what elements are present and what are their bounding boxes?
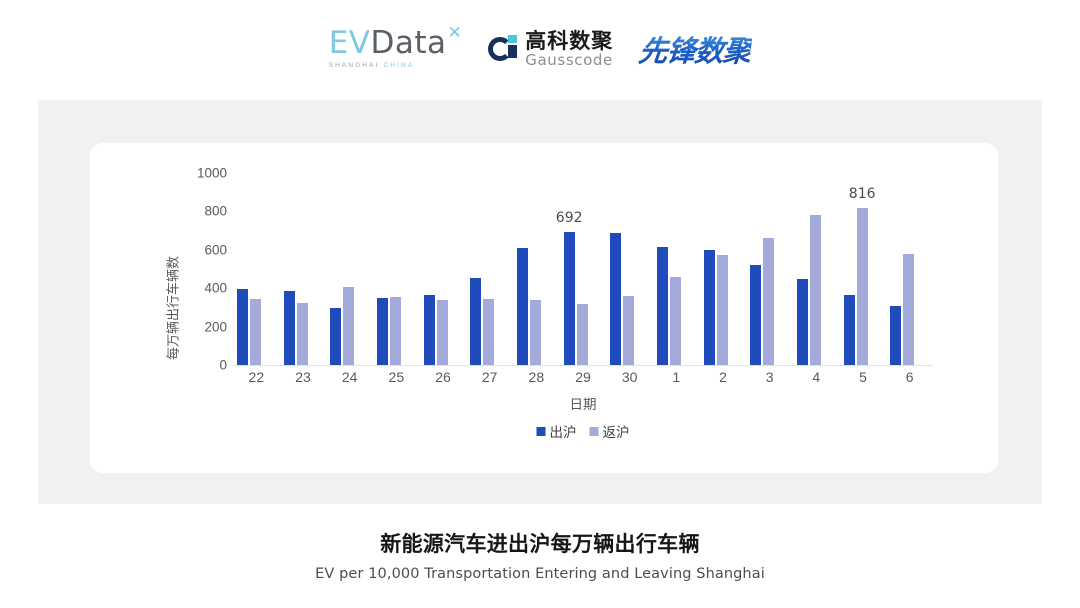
bar-group — [746, 173, 793, 365]
evdata-subtitle: SHANGHAI CHINA — [329, 63, 415, 70]
caption-chinese: 新能源汽车进出沪每万辆出行车辆 — [0, 528, 1080, 558]
bar-chuhu[interactable] — [797, 279, 808, 365]
legend-swatch-icon — [537, 427, 546, 436]
x-axis-tick-label: 1 — [672, 369, 680, 385]
bar-chuhu[interactable] — [750, 265, 761, 365]
x-axis-tick-label: 25 — [389, 369, 405, 385]
y-axis-title: 每万辆出行车辆数 — [163, 256, 182, 360]
bar-chuhu[interactable] — [330, 308, 341, 365]
bar-group — [513, 173, 560, 365]
bar-fanhu[interactable] — [763, 238, 774, 365]
x-axis-tick-label: 29 — [575, 369, 591, 385]
bar-chuhu[interactable] — [517, 248, 528, 366]
bar-group — [420, 173, 467, 365]
legend-item[interactable]: 出沪 — [537, 421, 577, 441]
bar-fanhu[interactable] — [483, 299, 494, 365]
bar-chuhu[interactable] — [890, 306, 901, 365]
chart-card: 每万辆出行车辆数 02004006008001000 692816 222324… — [90, 143, 998, 473]
gausscode-light-square-shape — [508, 35, 517, 43]
bar-fanhu[interactable] — [250, 299, 261, 365]
chart-legend: 出沪返沪 — [537, 421, 630, 441]
gausscode-wordmark: 高科数聚 Gausscode — [525, 31, 613, 68]
bar-group — [886, 173, 933, 365]
bar-fanhu[interactable] — [297, 303, 308, 365]
bar-fanhu[interactable] — [810, 215, 821, 365]
gausscode-chinese-text: 高科数聚 — [525, 31, 613, 52]
bar-fanhu[interactable] — [903, 254, 914, 365]
evdata-ev-text: EV — [329, 28, 371, 59]
bar-chuhu[interactable] — [844, 295, 855, 365]
x-axis-tick-label: 4 — [812, 369, 820, 385]
y-axis-ticks: 02004006008001000 — [185, 173, 227, 365]
evdata-logo: EV Data ✕ SHANGHAI CHINA — [329, 28, 463, 70]
bar-chuhu[interactable] — [610, 233, 621, 365]
plot-area: 692816 — [233, 173, 933, 366]
bar-fanhu[interactable] — [623, 296, 634, 365]
x-axis-tick-label: 27 — [482, 369, 498, 385]
x-axis-tick-label: 30 — [622, 369, 638, 385]
xianfeng-shuju-logo: 先锋数聚 — [637, 28, 753, 70]
gausscode-mark-icon — [488, 34, 518, 64]
bar-value-label: 692 — [556, 210, 583, 226]
legend-label: 返沪 — [603, 421, 630, 441]
bar-group — [606, 173, 653, 365]
bar-group — [280, 173, 327, 365]
gausscode-dark-square-shape — [508, 45, 517, 58]
bar-fanhu[interactable] — [343, 287, 354, 365]
bar-chuhu[interactable] — [657, 247, 668, 365]
bar-chuhu[interactable] — [424, 295, 435, 365]
x-axis-title: 日期 — [570, 393, 597, 413]
x-axis-tick-label: 2 — [719, 369, 727, 385]
x-axis-tick-label: 6 — [906, 369, 914, 385]
evdata-subtitle-shanghai: SHANGHAI — [329, 63, 380, 70]
evdata-x-icon: ✕ — [448, 24, 463, 41]
bar-group — [373, 173, 420, 365]
legend-label: 出沪 — [550, 421, 577, 441]
bar-chuhu[interactable] — [704, 250, 715, 365]
bar-chuhu[interactable] — [564, 232, 575, 365]
gausscode-logo: 高科数聚 Gausscode — [488, 31, 613, 68]
bar-fanhu[interactable] — [577, 304, 588, 365]
y-axis-tick-label: 0 — [219, 358, 227, 373]
x-axis-tick-label: 22 — [249, 369, 265, 385]
bar-group — [466, 173, 513, 365]
bar-value-label: 816 — [849, 186, 876, 202]
x-axis-tick-label: 28 — [529, 369, 545, 385]
bar-group — [233, 173, 280, 365]
caption-english: EV per 10,000 Transportation Entering an… — [0, 566, 1080, 582]
figure-caption: 新能源汽车进出沪每万辆出行车辆 EV per 10,000 Transporta… — [0, 528, 1080, 582]
bar-group — [793, 173, 840, 365]
x-axis-tick-label: 24 — [342, 369, 358, 385]
bar-fanhu[interactable] — [437, 300, 448, 365]
bar-fanhu[interactable] — [670, 277, 681, 365]
bar-chuhu[interactable] — [237, 289, 248, 365]
evdata-data-text: Data — [371, 28, 447, 59]
x-axis-tick-label: 23 — [295, 369, 311, 385]
y-axis-tick-label: 400 — [204, 281, 227, 296]
evdata-wordmark: EV Data ✕ — [329, 28, 463, 59]
bar-group — [326, 173, 373, 365]
legend-item[interactable]: 返沪 — [590, 421, 630, 441]
evdata-subtitle-china: CHINA — [383, 63, 414, 70]
bar-chuhu[interactable] — [284, 291, 295, 365]
y-axis-tick-label: 200 — [204, 319, 227, 334]
bar-group — [560, 173, 607, 365]
bar-chart: 每万辆出行车辆数 02004006008001000 692816 222324… — [90, 143, 998, 473]
bar-fanhu[interactable] — [857, 208, 868, 365]
y-axis-tick-label: 600 — [204, 242, 227, 257]
bar-group — [700, 173, 747, 365]
bar-chuhu[interactable] — [377, 298, 388, 365]
logo-bar: EV Data ✕ SHANGHAI CHINA 高科数聚 Gausscode … — [0, 0, 1080, 90]
bar-chuhu[interactable] — [470, 278, 481, 365]
x-axis-ticks: 222324252627282930123456 — [233, 369, 933, 389]
bar-fanhu[interactable] — [390, 297, 401, 365]
x-axis-tick-label: 3 — [766, 369, 774, 385]
y-axis-tick-label: 1000 — [197, 166, 227, 181]
x-axis-tick-label: 26 — [435, 369, 451, 385]
legend-swatch-icon — [590, 427, 599, 436]
gausscode-english-text: Gausscode — [525, 53, 613, 68]
bar-fanhu[interactable] — [717, 255, 728, 365]
x-axis-tick-label: 5 — [859, 369, 867, 385]
y-axis-tick-label: 800 — [204, 204, 227, 219]
bar-group — [653, 173, 700, 365]
bar-fanhu[interactable] — [530, 300, 541, 365]
